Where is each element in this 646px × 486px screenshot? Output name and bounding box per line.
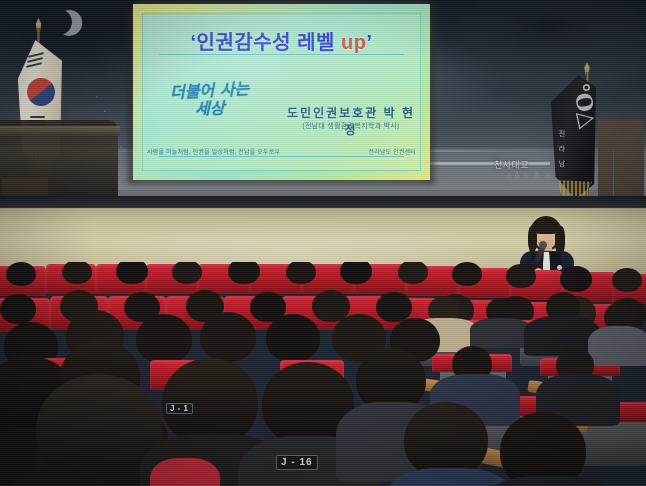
slide-presenter-credential: (전남대 생활환경복지학과 박사): [281, 121, 421, 131]
audience-head: [62, 262, 92, 284]
slide-calligraphy-logo: 더불어 사는 세상: [170, 79, 295, 137]
audience-shoulders: [588, 326, 646, 366]
audience-head: [200, 312, 256, 362]
audience-head: [6, 262, 36, 286]
mural-label: 천사대교: [494, 158, 529, 171]
auditorium-photo: 천사대교 ‘인권감수성 레벨 up’ 더불어 사는 세상 도민인권보호관 박 현…: [0, 0, 646, 486]
audience-red-jacket: [150, 458, 220, 486]
audience-head: [228, 262, 260, 284]
slide-footer-slogan: 사람을 하늘처럼, 인권을 일상처럼, 전남을 모두로우: [147, 147, 280, 156]
projection-screen: ‘인권감수성 레벨 up’ 더불어 사는 세상 도민인권보호관 박 현 정 (전…: [133, 4, 430, 180]
presenter-hair-right: [555, 226, 565, 254]
audience-head: [398, 262, 428, 284]
presenter-hair-left: [528, 226, 537, 252]
piano-lid: [0, 126, 120, 136]
audience-head: [340, 262, 372, 284]
slide-title: ‘인권감수성 레벨 up’: [133, 26, 430, 55]
mural-speck: [104, 110, 106, 112]
mural-speck: [96, 96, 98, 98]
trigram-bar: [30, 116, 45, 118]
slide-title-main: ‘인권감수성 레벨: [191, 32, 341, 54]
audience-shoulders: [470, 318, 532, 348]
trigram-bar: [26, 62, 42, 68]
audience-head: [136, 314, 192, 364]
slide-divider: [159, 156, 404, 157]
audience-head: [612, 268, 642, 292]
slide-title-close: ’: [366, 32, 372, 54]
audience-head: [172, 262, 202, 284]
audience-head-foreground: [404, 402, 488, 478]
audience-head-foreground: [162, 358, 258, 446]
banner-vertical-text: 전 라 남: [556, 130, 566, 170]
microphone-head-icon: [539, 241, 547, 249]
seat-label-secondary: J - 1: [166, 403, 193, 414]
audience-seating: J - 1 J - 16: [0, 262, 646, 486]
seat-label-primary: J - 16: [276, 455, 318, 470]
audience-head: [506, 264, 536, 288]
audience-head: [0, 294, 36, 324]
audience-head: [116, 262, 148, 284]
slide-title-accent: up: [341, 32, 366, 54]
audience-head: [560, 266, 592, 292]
audience-head: [266, 314, 320, 362]
slide-footer-organization: 전라남도 인권센터: [368, 147, 416, 156]
audience-head: [376, 292, 412, 322]
calligraphy-line-2: 세상: [195, 99, 293, 118]
audience-head: [286, 262, 316, 284]
taeguk-symbol-icon: [23, 74, 58, 109]
audience-head-foreground: [500, 412, 586, 486]
audience-head: [452, 262, 482, 286]
